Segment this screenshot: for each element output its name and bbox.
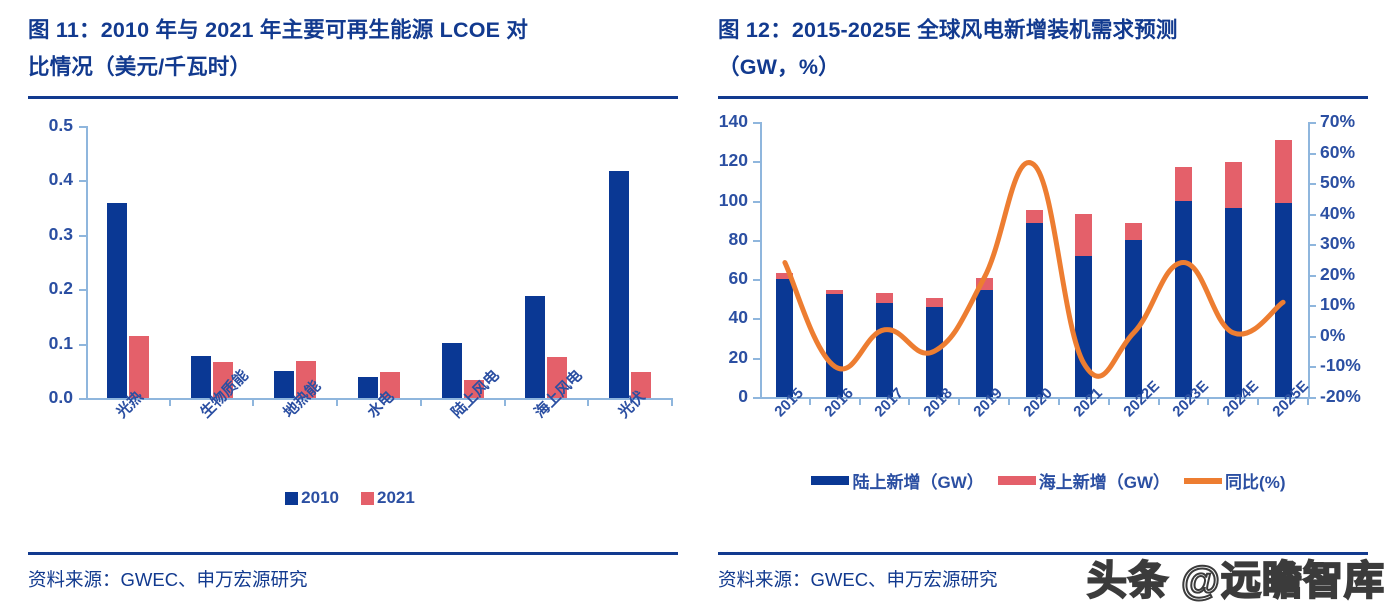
y-axis-tick (753, 318, 760, 320)
secondary-y-axis-tick-label: 40% (1320, 205, 1355, 223)
x-axis-tick (252, 398, 254, 406)
right-source-divider (718, 552, 1368, 555)
bar-offshore (876, 293, 893, 303)
y-axis-tick (753, 358, 760, 360)
right-figure-panel: 图 12：2015-2025E 全球风电新增装机需求预测 （GW，%） 0204… (700, 0, 1397, 607)
y-axis-tick-label: 0.0 (28, 389, 73, 407)
bar-onshore (776, 279, 793, 397)
y-axis-tick (79, 126, 86, 128)
bar-offshore (1275, 140, 1292, 203)
y-axis-line (86, 126, 88, 398)
bar-offshore (1026, 210, 1043, 223)
secondary-y-axis-tick (1308, 214, 1316, 216)
x-axis-tick (809, 397, 811, 405)
x-axis-tick (1257, 397, 1259, 405)
bar-offshore (1225, 162, 1242, 208)
bar-2021 (129, 336, 149, 398)
bar-2010 (358, 377, 378, 398)
legend-label: 陆上新增（GW） (852, 468, 983, 493)
bar-2010 (525, 296, 545, 398)
lcoe-comparison-chart: 0.00.10.20.30.40.5光热生物质能地热能水电陆上风电海上风电光伏 (28, 118, 678, 498)
bar-onshore (1125, 240, 1142, 397)
y-axis-line (760, 122, 762, 397)
y-axis-tick-label: 0.3 (28, 226, 73, 244)
bar-2010 (107, 203, 127, 398)
legend-line-swatch (1184, 478, 1222, 484)
y-axis-tick-label: 100 (710, 192, 748, 210)
secondary-y-axis-tick-label: 10% (1320, 296, 1355, 314)
x-axis-tick (958, 397, 960, 405)
bar-onshore (1075, 256, 1092, 397)
y-axis-tick (753, 240, 760, 242)
left-source-note: 资料来源：GWEC、申万宏源研究 (28, 566, 308, 592)
bar-2010 (442, 343, 462, 398)
bar-onshore (1225, 208, 1242, 397)
legend-label-2021: 2021 (377, 488, 415, 508)
legend-swatch-2021 (361, 492, 374, 505)
secondary-y-axis-tick (1308, 183, 1316, 185)
x-axis-tick (336, 398, 338, 406)
y-axis-tick-label: 0.1 (28, 335, 73, 353)
x-axis-tick (1108, 397, 1110, 405)
bar-onshore (1175, 201, 1192, 397)
bar-onshore (1275, 203, 1292, 397)
bar-onshore (876, 303, 893, 397)
y-axis-tick-label: 0 (710, 388, 748, 406)
legend-label: 同比(%) (1225, 468, 1285, 493)
right-figure-title: 图 12：2015-2025E 全球风电新增装机需求预测 （GW，%） (718, 12, 1363, 86)
legend-item-陆上新增（GW）: 陆上新增（GW） (811, 468, 983, 493)
legend-item-同比(%): 同比(%) (1184, 468, 1285, 493)
secondary-y-axis-tick-label: 50% (1320, 174, 1355, 192)
x-axis-tick (1158, 397, 1160, 405)
legend-item-2010: 2010 (285, 488, 339, 508)
legend-bar-swatch (998, 476, 1036, 485)
secondary-y-axis-tick (1308, 153, 1316, 155)
bar-offshore (826, 290, 843, 294)
bar-offshore (976, 278, 993, 290)
x-axis-tick (859, 397, 861, 405)
secondary-y-axis-tick-label: -10% (1320, 357, 1361, 375)
secondary-y-axis-tick-label: 20% (1320, 266, 1355, 284)
x-axis-tick (1207, 397, 1209, 405)
legend-bar-swatch (811, 476, 849, 485)
secondary-y-axis-tick-label: 70% (1320, 113, 1355, 131)
legend-swatch-2010 (285, 492, 298, 505)
y-axis-tick-label: 120 (710, 152, 748, 170)
left-figure-title: 图 11：2010 年与 2021 年主要可再生能源 LCOE 对 比情况（美元… (28, 12, 668, 86)
x-axis-tick (1307, 397, 1309, 405)
secondary-y-axis-tick (1308, 122, 1316, 124)
secondary-y-axis-tick (1308, 336, 1316, 338)
x-axis-tick (587, 398, 589, 406)
secondary-y-axis-tick (1308, 305, 1316, 307)
bar-2010 (609, 171, 629, 398)
legend-item-2021: 2021 (361, 488, 415, 508)
bar-offshore (1075, 214, 1092, 255)
y-axis-tick (79, 289, 86, 291)
secondary-y-axis-tick-label: 30% (1320, 235, 1355, 253)
secondary-y-axis-tick (1308, 397, 1316, 399)
y-axis-tick-label: 80 (710, 231, 748, 249)
y-axis-tick-label: 60 (710, 270, 748, 288)
right-title-divider (718, 96, 1368, 99)
y-axis-tick (79, 344, 86, 346)
secondary-y-axis-tick (1308, 275, 1316, 277)
bar-onshore (826, 294, 843, 397)
y-axis-tick-label: 20 (710, 349, 748, 367)
x-axis-tick (671, 398, 673, 406)
left-source-divider (28, 552, 678, 555)
wind-installation-forecast-chart: 020406080100120140-20%-10%0%10%20%30%40%… (710, 112, 1370, 502)
legend-label-2010: 2010 (301, 488, 339, 508)
legend-label: 海上新增（GW） (1039, 468, 1170, 493)
watermark-text: 头条 @远瞻智库 (1087, 561, 1385, 601)
bar-onshore (1026, 223, 1043, 397)
secondary-y-axis-tick (1308, 366, 1316, 368)
legend-item-海上新增（GW）: 海上新增（GW） (998, 468, 1170, 493)
figure-page: 图 11：2010 年与 2021 年主要可再生能源 LCOE 对 比情况（美元… (0, 0, 1397, 607)
bar-offshore (926, 298, 943, 307)
y-axis-tick-label: 40 (710, 309, 748, 327)
x-axis-tick (908, 397, 910, 405)
y-axis-tick (753, 279, 760, 281)
bar-2010 (191, 356, 211, 398)
y-axis-tick (753, 397, 760, 399)
bar-2010 (274, 371, 294, 398)
bar-offshore (776, 273, 793, 279)
y-axis-tick-label: 0.5 (28, 117, 73, 135)
y-axis-tick (79, 398, 86, 400)
secondary-y-axis-tick-label: 0% (1320, 327, 1345, 345)
left-title-divider (28, 96, 678, 99)
x-axis-tick (1058, 397, 1060, 405)
secondary-y-axis-tick (1308, 244, 1316, 246)
x-axis-tick (1008, 397, 1010, 405)
secondary-y-axis-tick-label: 60% (1320, 144, 1355, 162)
x-axis-tick (169, 398, 171, 406)
y-axis-tick (79, 180, 86, 182)
y-axis-tick-label: 0.2 (28, 280, 73, 298)
x-axis-tick (420, 398, 422, 406)
y-axis-tick-label: 0.4 (28, 171, 73, 189)
y-axis-tick (753, 122, 760, 124)
secondary-y-axis-tick-label: -20% (1320, 388, 1361, 406)
x-axis-tick (504, 398, 506, 406)
bar-onshore (926, 307, 943, 397)
right-chart-legend: 陆上新增（GW）海上新增（GW）同比(%) (700, 468, 1397, 493)
secondary-y-axis-line (1308, 122, 1310, 397)
right-source-note: 资料来源：GWEC、申万宏源研究 (718, 566, 998, 592)
y-axis-tick-label: 140 (710, 113, 748, 131)
y-axis-tick (79, 235, 86, 237)
y-axis-tick (753, 201, 760, 203)
bar-offshore (1175, 167, 1192, 200)
bar-offshore (1125, 223, 1142, 240)
left-figure-panel: 图 11：2010 年与 2021 年主要可再生能源 LCOE 对 比情况（美元… (0, 0, 700, 607)
left-chart-legend: 20102021 (0, 488, 700, 508)
bar-onshore (976, 290, 993, 397)
y-axis-tick (753, 161, 760, 163)
